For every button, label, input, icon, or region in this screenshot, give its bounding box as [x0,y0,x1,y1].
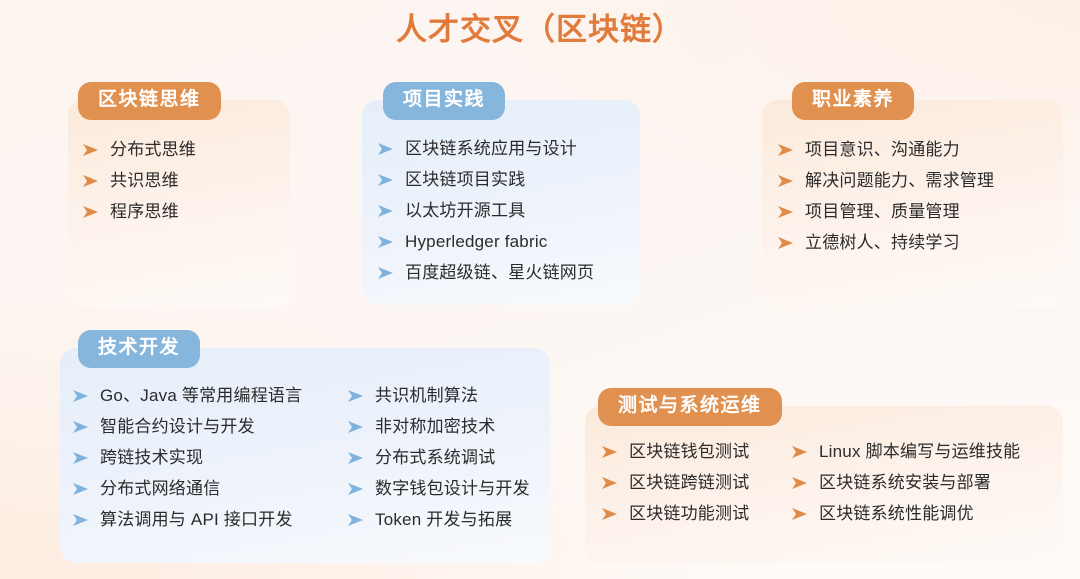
list-item[interactable]: 分布式系统调试 [345,442,530,473]
list-item[interactable]: 区块链跨链测试 [599,467,789,498]
card-testing-and-operations: 测试与系统运维 区块链钱包测试 区块链跨链测试 [585,406,1063,563]
arrow-right-icon [70,416,92,438]
card-header-blockchain-thinking: 区块链思维 [78,82,221,120]
list-item[interactable]: 区块链功能测试 [599,498,789,529]
arrow-right-icon [375,138,397,160]
arrow-right-icon [599,503,621,525]
infographic-page: 人才交叉（区块链） 区块链思维 分布式思维 共识思维 [0,0,1080,579]
list-item[interactable]: Linux 脚本编写与运维技能 [789,436,1020,467]
card-header-project-practice: 项目实践 [383,82,505,120]
list-item-label: 区块链系统性能调优 [819,498,974,529]
arrow-right-icon [80,170,102,192]
arrow-right-icon [345,509,367,531]
list-item[interactable]: 百度超级链、星火链网页 [375,257,594,288]
list-item-label: 共识思维 [110,165,179,196]
arrow-right-icon [375,262,397,284]
item-column: 项目意识、沟通能力 解决问题能力、需求管理 项目管理、质量管理 [775,134,994,258]
list-item[interactable]: 程序思维 [80,196,196,227]
arrow-right-icon [70,385,92,407]
list-item-label: 分布式系统调试 [375,442,495,473]
list-item-label: 智能合约设计与开发 [100,411,255,442]
arrow-right-icon [775,139,797,161]
list-item[interactable]: 分布式思维 [80,134,196,165]
list-item-label: 分布式网络通信 [100,473,220,504]
card-header-professional-quality: 职业素养 [792,82,914,120]
list-item[interactable]: 算法调用与 API 接口开发 [70,504,345,535]
list-item[interactable]: 区块链钱包测试 [599,436,789,467]
item-column: 区块链系统应用与设计 区块链项目实践 以太坊开源工具 [375,133,594,288]
list-item-label: 区块链系统安装与部署 [819,467,991,498]
list-item-label: Hyperledger fabric [405,226,548,257]
arrow-right-icon [345,447,367,469]
arrow-right-icon [345,416,367,438]
card-body-technical-development: Go、Java 等常用编程语言 智能合约设计与开发 跨链技术实现 [70,380,550,535]
list-item-label: 程序思维 [110,196,179,227]
arrow-right-icon [375,231,397,253]
arrow-right-icon [775,232,797,254]
list-item[interactable]: 数字钱包设计与开发 [345,473,530,504]
list-item-label: 区块链系统应用与设计 [405,133,577,164]
list-item-label: Linux 脚本编写与运维技能 [819,436,1020,467]
card-body-professional-quality: 项目意识、沟通能力 解决问题能力、需求管理 项目管理、质量管理 [775,134,1063,258]
arrow-right-icon [345,478,367,500]
list-item-label: 项目管理、质量管理 [805,196,960,227]
card-header-testing-and-operations: 测试与系统运维 [598,388,782,426]
list-item-label: 项目意识、沟通能力 [805,134,960,165]
list-item-label: 立德树人、持续学习 [805,227,960,258]
list-item-label: 区块链钱包测试 [629,436,749,467]
list-item-label: 区块链项目实践 [405,164,525,195]
card-body-blockchain-thinking: 分布式思维 共识思维 程序思维 [80,134,290,227]
card-header-technical-development: 技术开发 [78,330,200,368]
list-item[interactable]: 跨链技术实现 [70,442,345,473]
list-item-label: 区块链功能测试 [629,498,749,529]
list-item[interactable]: 立德树人、持续学习 [775,227,994,258]
list-item-label: 解决问题能力、需求管理 [805,165,994,196]
list-item-label: Go、Java 等常用编程语言 [100,380,302,411]
card-project-practice: 项目实践 区块链系统应用与设计 区块链项目实践 [362,100,640,305]
list-item[interactable]: 项目管理、质量管理 [775,196,994,227]
list-item-label: 算法调用与 API 接口开发 [100,504,293,535]
list-item-label: Token 开发与拓展 [375,504,512,535]
list-item-label: 数字钱包设计与开发 [375,473,530,504]
list-item-label: 区块链跨链测试 [629,467,749,498]
list-item[interactable]: 解决问题能力、需求管理 [775,165,994,196]
card-body-testing-and-operations: 区块链钱包测试 区块链跨链测试 区块链功能测试 [599,436,1063,529]
arrow-right-icon [80,201,102,223]
arrow-right-icon [70,447,92,469]
list-item[interactable]: 非对称加密技术 [345,411,530,442]
arrow-right-icon [70,509,92,531]
arrow-right-icon [80,139,102,161]
card-technical-development: 技术开发 Go、Java 等常用编程语言 智能合约设计与开发 [60,348,550,563]
arrow-right-icon [599,472,621,494]
list-item[interactable]: 以太坊开源工具 [375,195,594,226]
list-item-label: 以太坊开源工具 [405,195,525,226]
list-item-label: 非对称加密技术 [375,411,495,442]
card-body-project-practice: 区块链系统应用与设计 区块链项目实践 以太坊开源工具 [375,133,640,288]
arrow-right-icon [789,503,811,525]
item-column: 共识机制算法 非对称加密技术 分布式系统调试 [345,380,530,535]
list-item-label: 跨链技术实现 [100,442,203,473]
list-item[interactable]: 共识思维 [80,165,196,196]
list-item[interactable]: 项目意识、沟通能力 [775,134,994,165]
list-item[interactable]: Hyperledger fabric [375,226,594,257]
list-item[interactable]: Token 开发与拓展 [345,504,530,535]
arrow-right-icon [775,170,797,192]
card-professional-quality: 职业素养 项目意识、沟通能力 解决问题能力、需求管理 [762,100,1063,308]
item-column: 分布式思维 共识思维 程序思维 [80,134,196,227]
list-item[interactable]: Go、Java 等常用编程语言 [70,380,345,411]
list-item[interactable]: 区块链系统性能调优 [789,498,1020,529]
item-column: 区块链钱包测试 区块链跨链测试 区块链功能测试 [599,436,789,529]
item-column: Go、Java 等常用编程语言 智能合约设计与开发 跨链技术实现 [70,380,345,535]
arrow-right-icon [375,169,397,191]
arrow-right-icon [70,478,92,500]
arrow-right-icon [599,441,621,463]
list-item[interactable]: 智能合约设计与开发 [70,411,345,442]
list-item[interactable]: 区块链系统安装与部署 [789,467,1020,498]
list-item-label: 百度超级链、星火链网页 [405,257,594,288]
list-item[interactable]: 分布式网络通信 [70,473,345,504]
list-item[interactable]: 共识机制算法 [345,380,530,411]
list-item[interactable]: 区块链项目实践 [375,164,594,195]
page-title: 人才交叉（区块链） [0,8,1080,52]
arrow-right-icon [375,200,397,222]
item-column: Linux 脚本编写与运维技能 区块链系统安装与部署 区块链系统性能调优 [789,436,1020,529]
arrow-right-icon [775,201,797,223]
arrow-right-icon [345,385,367,407]
arrow-right-icon [789,472,811,494]
card-blockchain-thinking: 区块链思维 分布式思维 共识思维 [68,100,290,308]
list-item-label: 共识机制算法 [375,380,478,411]
list-item[interactable]: 区块链系统应用与设计 [375,133,594,164]
arrow-right-icon [789,441,811,463]
list-item-label: 分布式思维 [110,134,196,165]
